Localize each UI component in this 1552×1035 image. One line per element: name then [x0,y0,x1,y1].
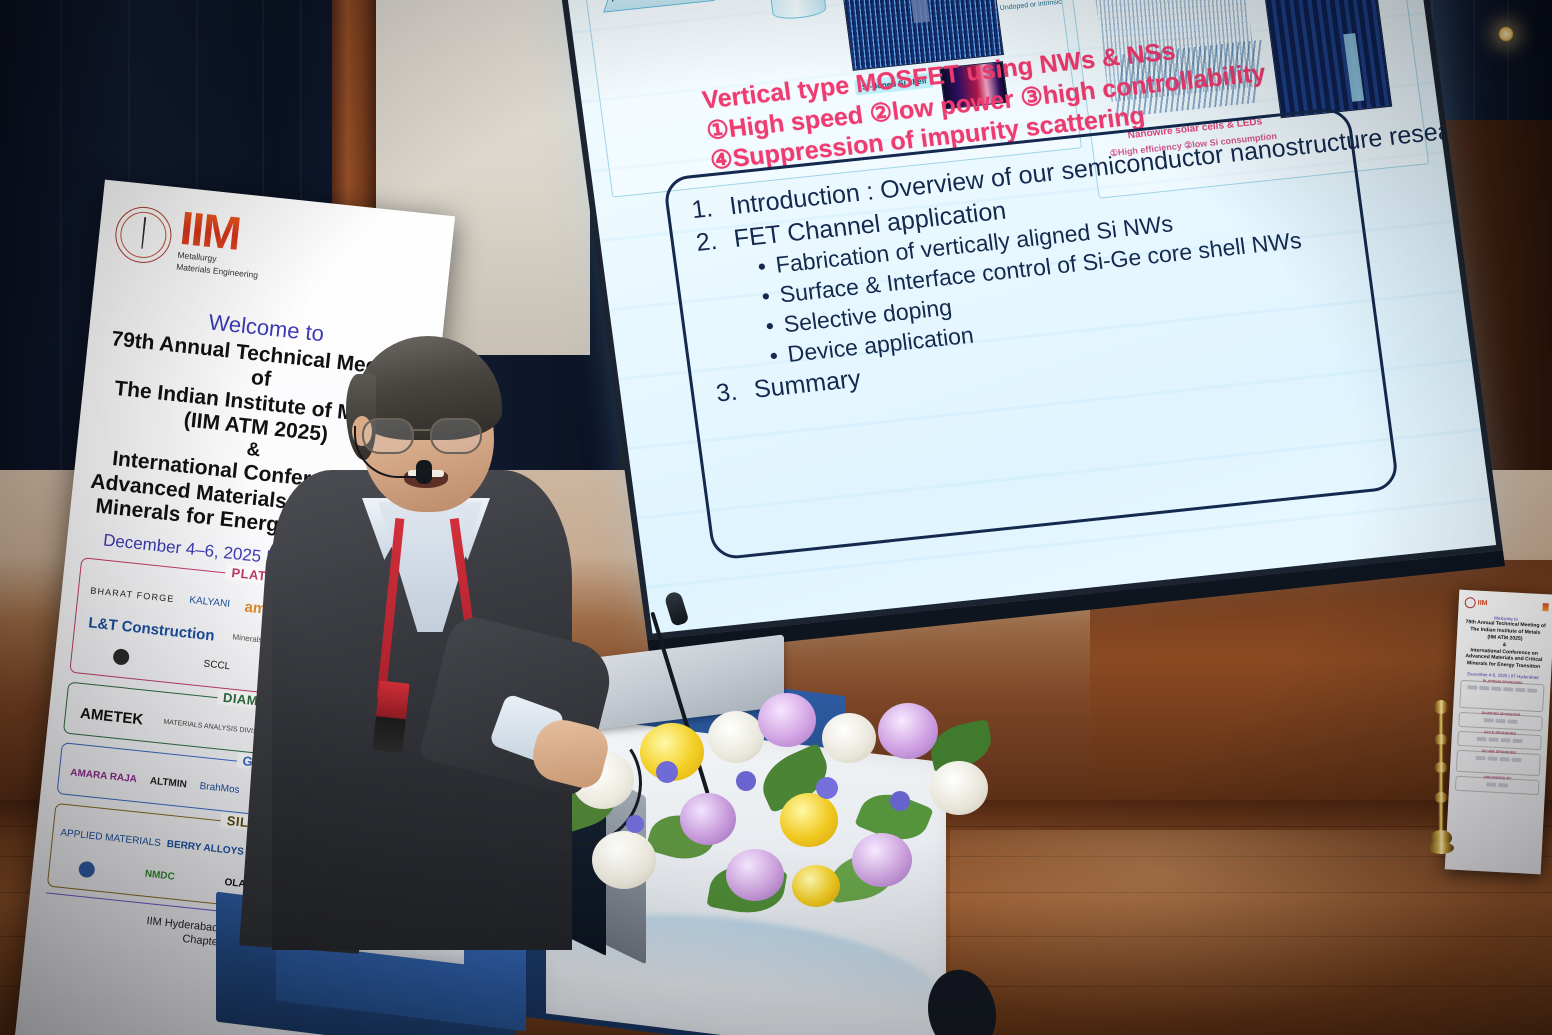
standee-tier-organised: ORGANISED BY [1455,776,1540,795]
headset-microphone-capsule [416,460,432,484]
logo-amara-raja: AMARA RAJA [70,769,138,786]
agenda-number-1: 1. [690,191,732,227]
standee-tier-silver: SILVER SPONSORS [1456,750,1541,776]
flower-lilac-2 [878,703,938,759]
conference-standee-right: IIM Welcome to 79th Annual Technical Mee… [1445,590,1552,875]
logo-lt-construction: L&T Construction [88,615,216,644]
standee-tier-gold: GOLD SPONSORS [1457,731,1542,750]
brass-oil-lamp [1430,700,1452,868]
flower-blue-2 [736,771,756,791]
ceiling-spotlight [1498,26,1514,42]
flower-lilac-5 [852,833,912,887]
presentation-slide: Semiconductor nanostructures for future … [567,0,1496,634]
flower-white-3 [822,713,876,763]
logo-kalyani: KALYANI [189,596,231,611]
auditorium-scene: Semiconductor nanostructures for future … [0,0,1552,1035]
label-undoped: Undoped or intrinsic [999,0,1062,12]
agenda-number-3: 3. [714,373,756,409]
screen-frame: Semiconductor nanostructures for future … [560,0,1503,640]
flower-lilac-1 [758,693,816,747]
flower-blue-3 [816,777,838,799]
flower-blue-5 [626,815,644,833]
agenda-number-2: 2. [694,223,736,259]
iim-logo: IIM Metallurgy Materials Engineering [112,199,437,298]
standee-tier-diamond: DIAMOND SPONSORS [1458,712,1543,731]
flower-yellow-2 [780,793,838,847]
flower-lilac-4 [726,849,784,901]
flower-blue-4 [890,791,910,811]
projection-screen: Semiconductor nanostructures for future … [560,0,1507,670]
logo-bharat-forge: BHARAT FORGE [90,586,175,604]
standee-tier-platinum: PLATINUM SPONSORS [1459,680,1544,712]
flower-lilac-3 [680,793,736,845]
presenter [258,330,618,950]
flower-blue-1 [656,761,678,783]
iim-wordmark: IIM [178,206,264,258]
flower-yellow-3 [792,865,840,907]
flower-white-4 [930,761,988,815]
logo-nmdc: NMDC [144,870,175,884]
logo-applied-materials: APPLIED MATERIALS [60,829,162,850]
logo-altmin: ALTMIN [149,777,187,791]
agenda-box: 1.Introduction : Overview of our semicon… [662,106,1400,561]
logo-ametek: AMETEK [79,706,144,728]
iim-seal-icon [113,204,175,266]
flower-white-2 [708,711,764,763]
